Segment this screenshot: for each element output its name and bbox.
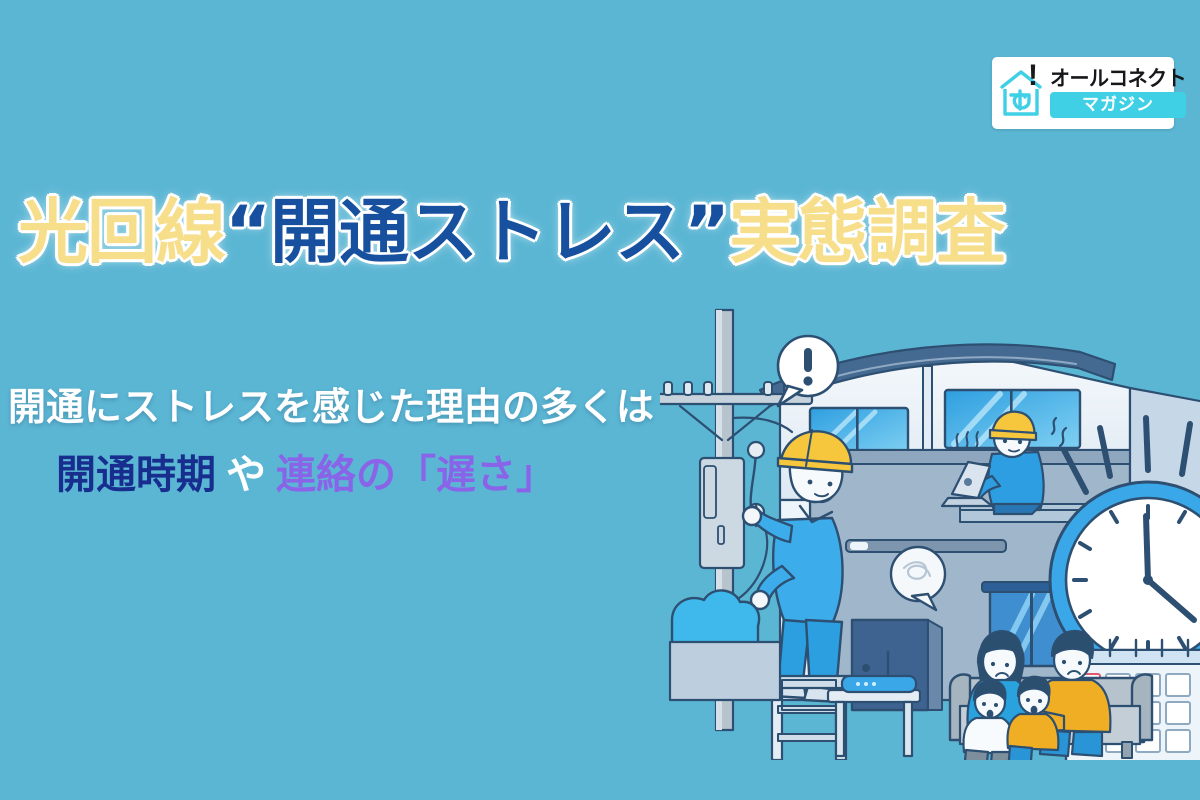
poster-canvas: ! オールコネクト マガジン 光回線“開通ストレス”実態調査 開通にストレスを感… <box>0 0 1200 800</box>
title-part-2: “開通ストレス” <box>225 191 729 273</box>
title-part-1: 光回線 <box>18 191 225 273</box>
brand-sub-label: マガジン <box>1050 92 1186 118</box>
title-part-3: 実態調査 <box>729 191 1005 273</box>
subtitle-line-2: 開通時期や連絡の「遅さ」 <box>56 442 556 500</box>
exclamation-icon: ! <box>1028 61 1038 91</box>
subtitle-line-1: 開通にストレスを感じた理由の多くは <box>8 376 654 431</box>
fiber-installation-illustration <box>660 290 1200 760</box>
subtitle-conjunction: や <box>226 452 266 498</box>
subtitle-highlight-timing: 開通時期 <box>56 452 216 498</box>
subtitle-highlight-delay: 連絡の「遅さ」 <box>276 452 556 498</box>
brand-name: オールコネクト <box>1050 68 1186 89</box>
brand-logo[interactable]: ! オールコネクト マガジン <box>992 57 1174 129</box>
page-title: 光回線“開通ストレス”実態調査 <box>18 196 1178 270</box>
